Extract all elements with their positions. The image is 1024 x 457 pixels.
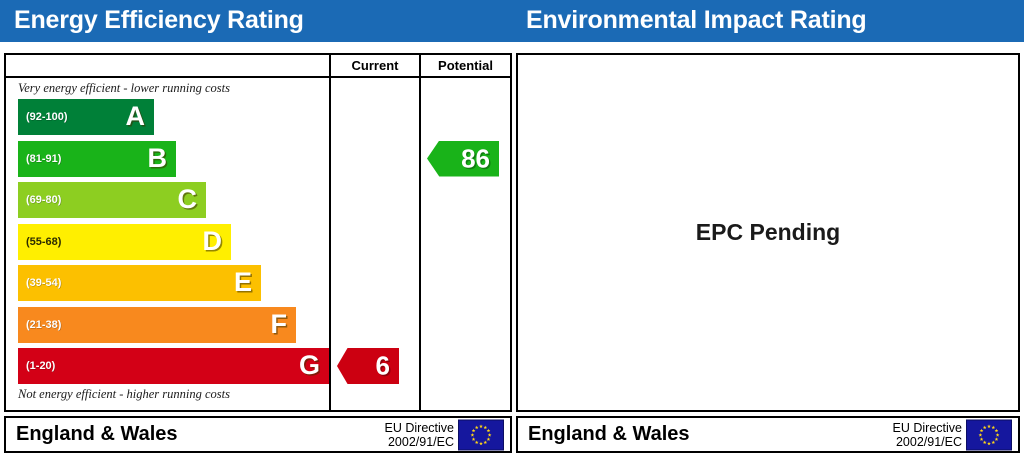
band-letter-label: B [148, 144, 168, 171]
band-letter-label: G [299, 352, 320, 379]
band-letter-label: A [126, 103, 146, 130]
footer-left: England & Wales EU Directive 2002/91/EC [4, 416, 512, 453]
band-range-label: (81-91) [26, 153, 61, 165]
column-header-row: Current Potential [6, 55, 510, 78]
column-header-current: Current [329, 55, 419, 76]
energy-efficiency-panel: Current Potential Very energy efficient … [4, 53, 512, 412]
potential-rating-value: 86 [461, 145, 490, 171]
column-header-potential: Potential [419, 55, 510, 76]
rating-band-d: (55-68)D [18, 224, 231, 260]
band-range-label: (21-38) [26, 319, 61, 331]
eu-flag-icon [966, 419, 1012, 450]
rating-band-a: (92-100)A [18, 99, 154, 135]
footer-directive: EU Directive 2002/91/EC [893, 421, 962, 449]
directive-line-1: EU Directive [893, 421, 962, 435]
band-range-label: (92-100) [26, 111, 68, 123]
environmental-rating-chart: EPC Pending [516, 53, 1020, 412]
footer-region-label: England & Wales [528, 423, 690, 446]
caption-not-efficient: Not energy efficient - higher running co… [18, 387, 230, 402]
band-letter-label: F [271, 310, 288, 337]
column-divider-potential [419, 78, 421, 412]
environmental-impact-rating-title: Environmental Impact Rating [526, 6, 867, 35]
epc-pending-message: EPC Pending [518, 55, 1018, 410]
energy-efficiency-rating-title: Energy Efficiency Rating [14, 6, 304, 35]
caption-very-efficient: Very energy efficient - lower running co… [18, 81, 230, 96]
environmental-impact-panel: EPC Pending [516, 53, 1020, 412]
band-letter-label: C [178, 186, 198, 213]
energy-rating-chart: Current Potential Very energy efficient … [4, 53, 512, 412]
band-letter-label: D [203, 227, 223, 254]
rating-band-f: (21-38)F [18, 307, 296, 343]
footer-region-label: England & Wales [16, 423, 178, 446]
current-rating-value: 6 [376, 352, 390, 378]
band-range-label: (55-68) [26, 236, 61, 248]
potential-rating-arrow: 86 [427, 141, 499, 177]
band-range-label: (39-54) [26, 277, 61, 289]
current-rating-arrow: 6 [337, 348, 399, 384]
current-rating-arrow-shape: 6 [337, 348, 399, 384]
rating-band-g: (1-20)G [18, 348, 329, 384]
rating-band-c: (69-80)C [18, 182, 206, 218]
directive-line-1: EU Directive [385, 421, 454, 435]
rating-bands-area: Very energy efficient - lower running co… [6, 78, 327, 412]
eu-flag-icon [458, 419, 504, 450]
footer-directive: EU Directive 2002/91/EC [385, 421, 454, 449]
band-range-label: (1-20) [26, 360, 55, 372]
band-letter-label: E [234, 269, 252, 296]
directive-line-2: 2002/91/EC [385, 435, 454, 449]
epc-certificate-graphic: Energy Efficiency Rating Environmental I… [0, 0, 1024, 457]
rating-band-e: (39-54)E [18, 265, 261, 301]
column-divider-current [329, 78, 331, 412]
band-range-label: (69-80) [26, 194, 61, 206]
directive-line-2: 2002/91/EC [893, 435, 962, 449]
potential-rating-arrow-shape: 86 [427, 141, 499, 177]
footer-right: England & Wales EU Directive 2002/91/EC [516, 416, 1020, 453]
rating-band-b: (81-91)B [18, 141, 176, 177]
